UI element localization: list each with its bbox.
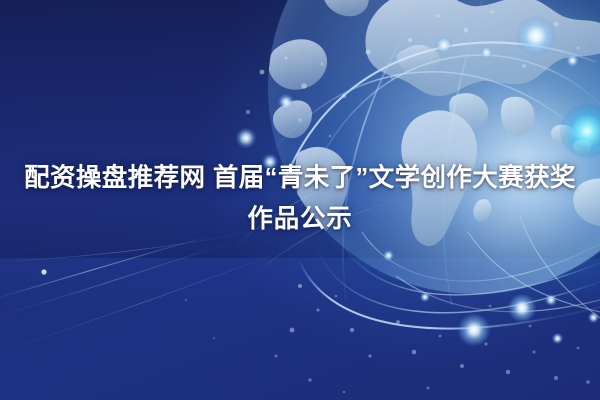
- headline-block: 配资操盘推荐网 首届“青未了”文学创作大赛获奖 作品公示: [0, 158, 600, 240]
- headline-line-2: 作品公示: [10, 199, 590, 240]
- banner-image: 配资操盘推荐网 首届“青未了”文学创作大赛获奖 作品公示: [0, 0, 600, 400]
- headline-line-1: 配资操盘推荐网 首届“青未了”文学创作大赛获奖: [10, 158, 590, 199]
